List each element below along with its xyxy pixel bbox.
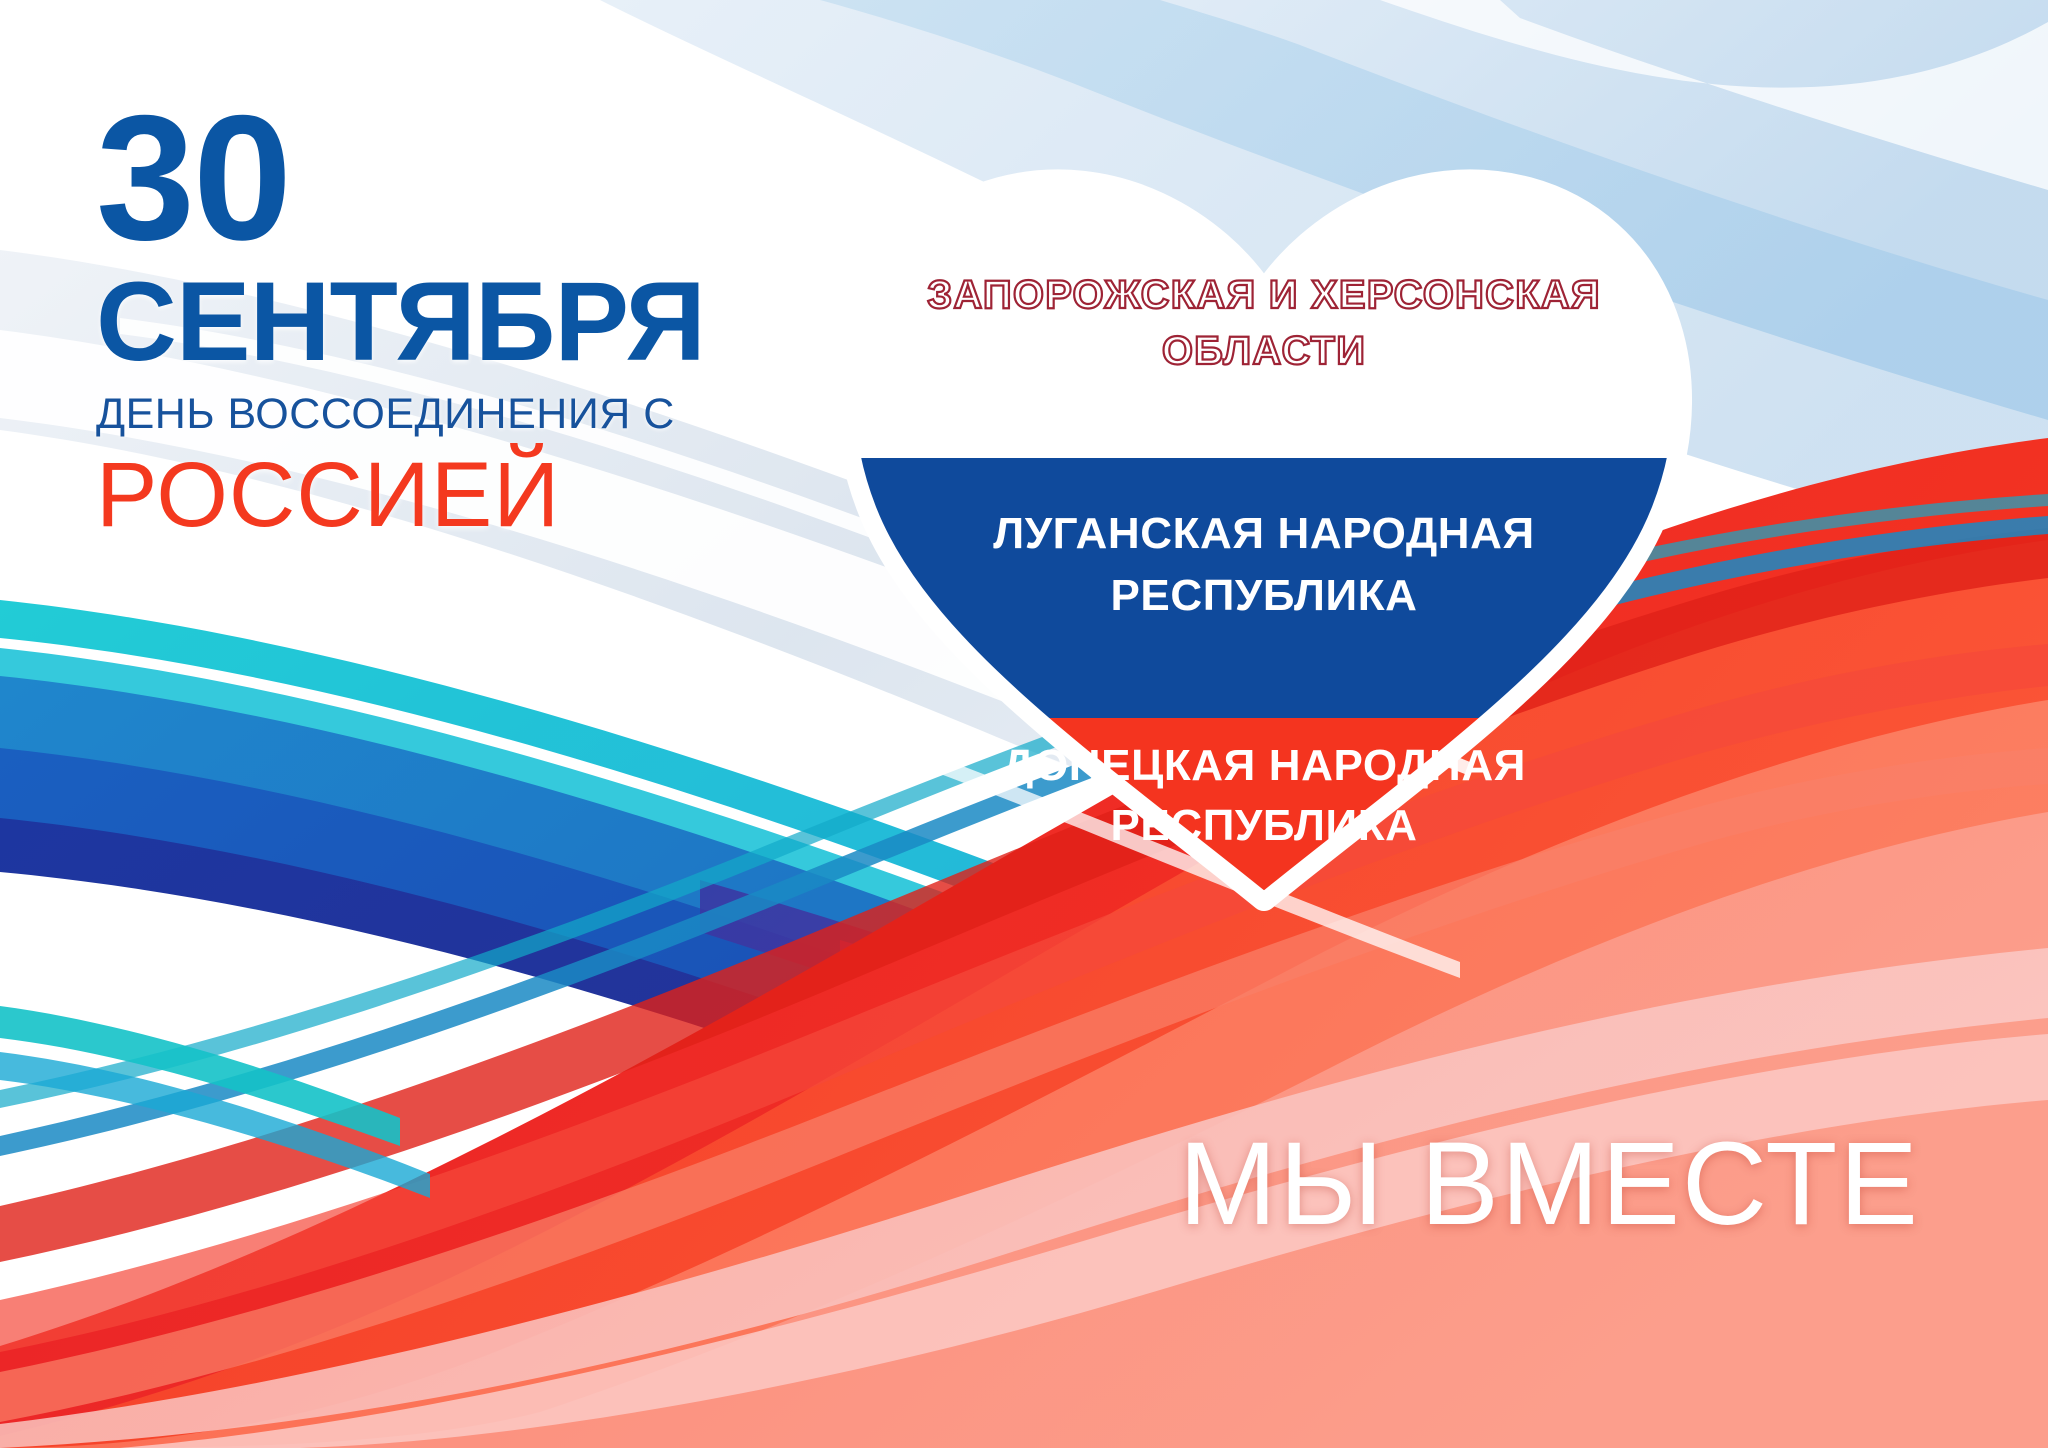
- heart-bot-line2: РЕСПУБЛИКА: [1110, 801, 1417, 850]
- headline-block: 30 СЕНТЯБРЯ ДЕНЬ ВОССОЕДИНЕНИЯ С РОССИЕЙ: [96, 96, 816, 541]
- heart-bot-line1: ДОНЕЦКАЯ НАРОДНАЯ: [1002, 741, 1526, 790]
- headline-subtitle: ДЕНЬ ВОССОЕДИНЕНИЯ С: [96, 392, 816, 437]
- heart-flag-bands: [804, 128, 1724, 1008]
- headline-country: РОССИЕЙ: [96, 449, 816, 541]
- heart-badge: ЗАПОРОЖСКАЯ И ХЕРСОНСКАЯ ОБЛАСТИ ЛУГАНСК…: [804, 128, 1724, 928]
- heart-mid-line1: ЛУГАНСКАЯ НАРОДНАЯ: [993, 509, 1535, 558]
- slogan-text: МЫ ВМЕСТЕ: [1179, 1116, 1920, 1252]
- poster-root: 30 СЕНТЯБРЯ ДЕНЬ ВОССОЕДИНЕНИЯ С РОССИЕЙ: [0, 0, 2048, 1448]
- heart-top-line2: ОБЛАСТИ: [1162, 329, 1366, 373]
- heart-top-line1: ЗАПОРОЖСКАЯ И ХЕРСОНСКАЯ: [927, 273, 1601, 317]
- headline-day: 30: [96, 96, 816, 260]
- headline-month: СЕНТЯБРЯ: [96, 266, 816, 378]
- heart-mid-line2: РЕСПУБЛИКА: [1110, 571, 1417, 620]
